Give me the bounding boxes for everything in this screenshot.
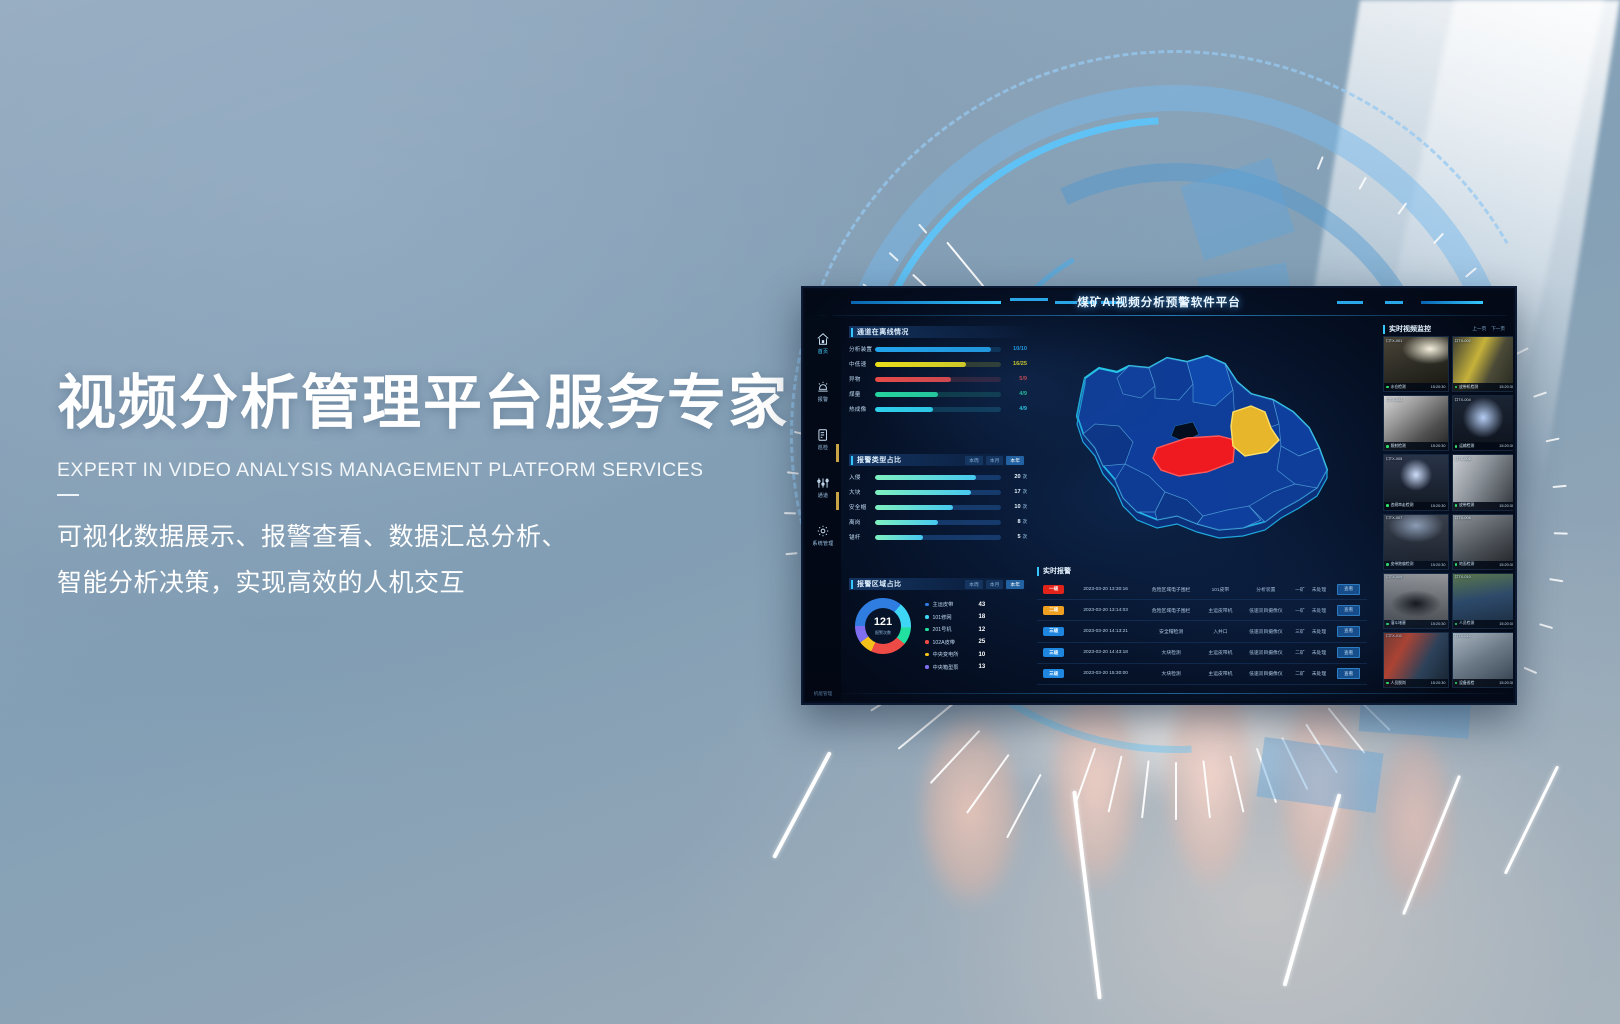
video-id: 口TX-001 xyxy=(1386,339,1402,344)
alarm-type-cell: 危险区域电子围栏 xyxy=(1141,579,1202,600)
alarm-action-cell: 查看 xyxy=(1330,663,1367,684)
online-led-icon xyxy=(1455,445,1458,448)
legend-value: 12 xyxy=(979,627,986,633)
alarm-type-row: 大块17次 xyxy=(849,488,1027,496)
panel-title: 报警区域占比 xyxy=(857,579,901,589)
status-badge: 一级 xyxy=(1043,585,1064,594)
video-time: 15:20:30 xyxy=(1431,681,1446,685)
progress-fill xyxy=(875,535,923,540)
period-tab-0[interactable]: 本周 xyxy=(965,456,983,465)
alarm-device-cell: 低速双目摄像仪 xyxy=(1239,600,1292,621)
online-led-icon xyxy=(1386,445,1389,448)
row-value: 5次 xyxy=(1001,534,1027,540)
progress-fill xyxy=(875,505,953,510)
realtime-alarm-panel: 实时报警 一级2023-03-20 13:30:16危险区域电子围栏101皮带分… xyxy=(1037,566,1367,685)
alarm-device-cell: 低速双目摄像仪 xyxy=(1239,621,1292,642)
ring-tick xyxy=(1317,156,1324,170)
alarm-status-cell: 未处理 xyxy=(1308,621,1331,642)
table-row: 三级2023-03-20 14:43:18大块检测主运皮带机低速双目摄像仪二矿未… xyxy=(1037,642,1367,663)
progress-fill xyxy=(875,392,938,397)
video-cell[interactable]: 口TX-012设备巡检15:20:30 xyxy=(1452,632,1514,688)
alarm-type-cell: 大块检测 xyxy=(1141,642,1202,663)
video-time: 15:20:30 xyxy=(1499,385,1513,389)
progress-fill xyxy=(875,347,991,352)
panel-header: 实时报警 xyxy=(1037,566,1367,576)
progress-track xyxy=(875,392,1001,397)
page-title: 视频分析管理平台服务专家 xyxy=(57,373,817,435)
hero-desc-line-1: 可视化数据展示、报警查看、数据汇总分析、 xyxy=(57,514,817,560)
alarm-level-cell: 一级 xyxy=(1037,579,1070,600)
video-name: 运输检测 xyxy=(1459,444,1474,449)
period-tab-2[interactable]: 本年 xyxy=(1006,456,1024,465)
row-label: 热成像 xyxy=(849,405,875,413)
row-value: 8次 xyxy=(1001,519,1027,525)
progress-fill xyxy=(875,377,951,382)
alarm-channel-cell: 主运皮带机 xyxy=(1201,663,1239,684)
row-unit: 次 xyxy=(1023,534,1027,539)
hero-section: 视频分析管理平台服务专家 EXPERT IN VIDEO ANALYSIS MA… xyxy=(57,373,817,606)
dashboard-footer xyxy=(841,689,1509,699)
donut-total-label: 报警次数 xyxy=(875,630,891,636)
sidebar-label: 首页 xyxy=(805,348,841,355)
channel-status-row: 中低速16/25 xyxy=(849,360,1027,368)
row-value: 4/9 xyxy=(1001,406,1027,412)
progress-track xyxy=(875,475,1001,480)
view-button[interactable]: 查看 xyxy=(1337,647,1360,658)
online-led-icon xyxy=(1386,386,1389,389)
dashboard-header: 煤矿AI视频分析预警软件平台 xyxy=(805,290,1513,316)
row-value: 5/9 xyxy=(1001,376,1027,382)
row-value: 4/9 xyxy=(1001,391,1027,397)
video-time: 15:20:30 xyxy=(1499,563,1513,567)
progress-track xyxy=(875,520,1001,525)
video-name: 地面检测 xyxy=(1459,562,1474,567)
row-label: 异物 xyxy=(849,375,875,383)
alarm-level-cell: 二级 xyxy=(1037,600,1070,621)
video-footer: 人员脱岗15:20:30 xyxy=(1384,679,1448,687)
alarm-type-row: 离岗8次 xyxy=(849,518,1027,526)
alarm-table: 一级2023-03-20 13:30:16危险区域电子围栏101皮带分析装置一矿… xyxy=(1037,579,1367,685)
table-row: 三级2023-03-20 15:30:00大块检测主运皮带机低速双目摄像仪二矿未… xyxy=(1037,663,1367,684)
legend-color-dot xyxy=(925,628,929,632)
alarm-channel-cell: 101皮带 xyxy=(1201,579,1239,600)
alarm-status-cell: 未处理 xyxy=(1308,663,1331,684)
alarm-time-cell: 2023-03-20 13:30:16 xyxy=(1070,579,1140,600)
video-time: 15:20:30 xyxy=(1431,622,1446,626)
video-name: 水仓检测 xyxy=(1391,385,1406,390)
alarm-device-cell: 低速双目摄像仪 xyxy=(1239,642,1292,663)
video-cell[interactable]: 口TX-007皮带跑偏检测15:20:30 xyxy=(1383,514,1449,570)
video-id: 口TX-009 xyxy=(1386,575,1402,580)
row-label: 锚杆 xyxy=(849,533,875,541)
progress-track xyxy=(875,535,1001,540)
video-name: 违规串走检测 xyxy=(1391,503,1414,508)
ring-tick xyxy=(1465,267,1477,278)
alarm-device-cell: 低速双目摄像仪 xyxy=(1239,663,1292,684)
online-led-icon xyxy=(1386,563,1389,566)
row-value: 17次 xyxy=(1001,489,1027,495)
channel-status-row: 异物5/9 xyxy=(849,375,1027,383)
ring-tick xyxy=(1006,774,1042,839)
row-unit: 次 xyxy=(1023,489,1027,494)
legend-color-dot xyxy=(925,665,929,669)
row-unit: 次 xyxy=(1023,504,1027,509)
row-label: 大块 xyxy=(849,488,875,496)
sidebar-item-alarm[interactable]: 报警 xyxy=(805,380,841,403)
video-grid: 口TX-001水仓检测15:20:30口TX-002皮带机检测15:20:30口… xyxy=(1383,336,1513,688)
video-id: 口TX-007 xyxy=(1386,516,1402,521)
ring-tick xyxy=(1539,623,1553,629)
progress-fill xyxy=(875,520,938,525)
row-count: 10 xyxy=(1014,504,1020,510)
online-led-icon xyxy=(1455,682,1458,685)
alarm-action-cell: 查看 xyxy=(1330,600,1367,621)
legend-color-dot xyxy=(925,640,929,644)
ring-tick xyxy=(1175,762,1177,820)
period-tab-2[interactable]: 本年 xyxy=(1006,580,1024,589)
video-name: 设备巡检 xyxy=(1459,681,1474,686)
panel-header: 报警类型占比 本周本月本年 xyxy=(849,454,1027,466)
alarm-type-cell: 危险区域电子围栏 xyxy=(1141,600,1202,621)
legend-value: 18 xyxy=(979,614,986,620)
channel-status-panel: 通道在离线情况 分析装置10/10中低速16/25异物5/9煤量4/9热成像4/… xyxy=(849,326,1027,413)
alarm-level-cell: 三级 xyxy=(1037,621,1070,642)
alarm-mine-cell: 一矿 xyxy=(1292,600,1307,621)
alarm-action-cell: 查看 xyxy=(1330,642,1367,663)
table-row: 三级2023-03-20 14:13:21安全帽检测入井口低速双目摄像仪三矿未处… xyxy=(1037,621,1367,642)
sidebar-item-channel[interactable]: 通道 xyxy=(805,476,841,499)
alarm-level-cell: 三级 xyxy=(1037,642,1070,663)
video-cell[interactable]: 口TX-009溜斗堵塞15:20:30 xyxy=(1383,573,1449,629)
row-label: 煤量 xyxy=(849,390,875,398)
video-id: 口TX-008 xyxy=(1455,516,1471,521)
ring-tick xyxy=(1524,667,1538,674)
ring-tick xyxy=(898,702,955,749)
row-unit: 次 xyxy=(1023,474,1027,479)
alarm-type-rows: 入侵20次大块17次安全帽10次离岗8次锚杆5次 xyxy=(849,473,1027,541)
ring-tick xyxy=(1229,756,1244,813)
legend-value: 10 xyxy=(979,652,986,658)
dashboard-monitor: 煤矿AI视频分析预警软件平台 首页 xyxy=(801,286,1517,705)
alarm-channel-cell: 主运皮带机 xyxy=(1201,600,1239,621)
dashboard-screen: 煤矿AI视频分析预警软件平台 首页 xyxy=(805,290,1513,701)
video-time: 15:20:30 xyxy=(1431,444,1446,448)
alarm-action-cell: 查看 xyxy=(1330,621,1367,642)
video-footer: 皮带机检测15:20:30 xyxy=(1453,383,1514,391)
sidebar-label: 通道 xyxy=(805,492,841,499)
table-row: 一级2023-03-20 13:30:16危险区域电子围栏101皮带分析装置一矿… xyxy=(1037,579,1367,600)
alarm-time-cell: 2023-03-20 15:30:00 xyxy=(1070,663,1140,684)
sidebar: 首页 报警 xyxy=(805,316,841,701)
row-value: 10次 xyxy=(1001,504,1027,510)
period-tab-1[interactable]: 本月 xyxy=(986,580,1004,589)
alarm-type-cell: 大块检测 xyxy=(1141,663,1202,684)
progress-fill xyxy=(875,362,966,367)
video-cell[interactable]: 口TX-006皮带检测15:20:30 xyxy=(1452,454,1514,510)
video-cell[interactable]: 口TX-001水仓检测15:20:30 xyxy=(1383,336,1449,392)
legend-color-dot xyxy=(925,653,929,657)
ring-tick xyxy=(1108,756,1123,813)
video-time: 15:20:30 xyxy=(1499,681,1513,685)
video-name: 照射检测 xyxy=(1391,444,1406,449)
progress-track xyxy=(875,407,1001,412)
legend-color-dot xyxy=(925,615,929,619)
video-time: 15:20:30 xyxy=(1499,622,1513,626)
ring-tick xyxy=(1533,391,1547,397)
sidebar-item-home[interactable]: 首页 xyxy=(805,332,841,355)
video-pager[interactable]: 上一页 下一页 xyxy=(1472,326,1505,332)
online-led-icon xyxy=(1386,504,1389,507)
legend-item: 201号机12 xyxy=(925,626,985,633)
video-name: 人员脱岗 xyxy=(1391,681,1406,686)
alarm-time-cell: 2023-03-20 14:13:21 xyxy=(1070,621,1140,642)
legend-label: 中央箱型泵 xyxy=(933,664,979,671)
row-value: 20次 xyxy=(1001,474,1027,480)
alarm-mine-cell: 一矿 xyxy=(1292,579,1307,600)
alarm-mine-cell: 三矿 xyxy=(1292,621,1307,642)
channel-icon xyxy=(805,476,841,491)
row-count: 5 xyxy=(1017,534,1020,540)
period-tab-1[interactable]: 本月 xyxy=(986,456,1004,465)
alarm-type-row: 入侵20次 xyxy=(849,473,1027,481)
dashboard-title: 煤矿AI视频分析预警软件平台 xyxy=(1077,294,1241,310)
legend-item: 中央变电所10 xyxy=(925,651,985,658)
legend-value: 25 xyxy=(979,639,986,645)
video-cell[interactable]: 口TX-002皮带机检测15:20:30 xyxy=(1452,336,1514,392)
video-id: 口TX-011 xyxy=(1386,634,1402,639)
online-led-icon xyxy=(1455,563,1458,566)
video-cell[interactable]: 口TX-003照射检测15:20:30 xyxy=(1383,395,1449,451)
alarm-mine-cell: 二矿 xyxy=(1292,663,1307,684)
row-label: 离岗 xyxy=(849,518,875,526)
progress-track xyxy=(875,490,1001,495)
ring-tick xyxy=(1358,177,1367,190)
legend-label: 201号机 xyxy=(933,626,979,633)
row-count: 17 xyxy=(1014,489,1020,495)
video-footer: 照射检测15:20:30 xyxy=(1384,442,1448,450)
video-name: 皮带检测 xyxy=(1459,503,1474,508)
legend-label: 102A皮带 xyxy=(933,639,979,646)
alarm-status-cell: 未处理 xyxy=(1308,600,1331,621)
video-cell[interactable]: 口TX-010人员检测15:20:30 xyxy=(1452,573,1514,629)
ring-tick xyxy=(889,252,899,262)
ring-tick xyxy=(1433,233,1444,245)
ring-tick xyxy=(1397,202,1407,215)
alarm-time-cell: 2023-03-20 13:14:03 xyxy=(1070,600,1140,621)
legend-value: 13 xyxy=(979,664,986,670)
sidebar-footer: 机能管理 xyxy=(805,691,841,697)
sidebar-label: 系统管理 xyxy=(805,540,841,547)
video-footer: 设备巡检15:20:30 xyxy=(1453,679,1514,687)
legend-label: 101修网 xyxy=(933,614,979,621)
ring-tick xyxy=(1075,748,1096,803)
video-time: 15:20:30 xyxy=(1431,563,1446,567)
video-footer: 水仓检测15:20:30 xyxy=(1384,383,1448,391)
hero-desc-line-2: 智能分析决策，实现高效的人机交互 xyxy=(57,560,817,606)
alarm-status-cell: 未处理 xyxy=(1308,642,1331,663)
ring-tick xyxy=(966,754,1009,814)
ring-tick xyxy=(1141,760,1150,818)
video-id: 口TX-004 xyxy=(1455,398,1471,403)
view-button[interactable]: 查看 xyxy=(1337,605,1360,616)
legend-label: 主运皮带 xyxy=(933,601,979,608)
ring-tick xyxy=(1554,532,1568,534)
video-cell[interactable]: 口TX-011人员脱岗15:20:30 xyxy=(1383,632,1449,688)
video-cell[interactable]: 口TX-005违规串走检测15:20:30 xyxy=(1383,454,1449,510)
progress-track xyxy=(875,505,1001,510)
alarm-area-donut: 121 报警次数 xyxy=(855,598,911,676)
video-panel-header: 实时视频监控 xyxy=(1383,324,1431,334)
settings-icon xyxy=(805,524,841,539)
row-count: 8 xyxy=(1017,519,1020,525)
video-footer: 溜斗堵塞15:20:30 xyxy=(1384,620,1448,628)
period-tabs[interactable]: 本周本月本年 xyxy=(965,456,1027,465)
progress-fill xyxy=(875,490,971,495)
alarm-level-cell: 三级 xyxy=(1037,663,1070,684)
alarm-type-cell: 安全帽检测 xyxy=(1141,621,1202,642)
legend-color-dot xyxy=(925,603,929,607)
ring-tick xyxy=(1515,347,1528,355)
next-page-button[interactable]: 下一页 xyxy=(1491,326,1505,332)
row-value: 16/25 xyxy=(1001,361,1027,367)
view-button[interactable]: 查看 xyxy=(1337,584,1360,595)
legend-label: 中央变电所 xyxy=(933,651,979,658)
alarm-type-row: 锚杆5次 xyxy=(849,533,1027,541)
donut-legend: 主运皮带43101修网18201号机12102A皮带25中央变电所10中央箱型泵… xyxy=(925,598,985,676)
row-count: 20 xyxy=(1014,474,1020,480)
progress-fill xyxy=(875,407,933,412)
inspection-icon xyxy=(805,428,841,443)
view-button[interactable]: 查看 xyxy=(1337,668,1360,679)
alarm-status-cell: 未处理 xyxy=(1308,579,1331,600)
video-id: 口TX-005 xyxy=(1386,457,1402,462)
panel-title: 通道在离线情况 xyxy=(857,327,909,337)
panel-title: 实时报警 xyxy=(1043,566,1071,576)
donut-total: 121 xyxy=(874,617,892,628)
sidebar-label: 报警 xyxy=(805,396,841,403)
panel-header: 通道在离线情况 xyxy=(849,326,1027,338)
video-time: 15:20:30 xyxy=(1431,504,1446,508)
china-province-map[interactable] xyxy=(1037,324,1367,554)
online-led-icon xyxy=(1455,504,1458,507)
header-underline xyxy=(833,315,1507,316)
video-name: 人员检测 xyxy=(1459,621,1474,626)
hero-subtitle: EXPERT IN VIDEO ANALYSIS MANAGEMENT PLAT… xyxy=(57,459,817,482)
row-label: 入侵 xyxy=(849,473,875,481)
online-led-icon xyxy=(1455,386,1458,389)
video-id: 口TX-012 xyxy=(1455,634,1471,639)
panel-title: 实时视频监控 xyxy=(1389,324,1431,334)
panel-header: 报警区域占比 本周本月本年 xyxy=(849,578,1027,590)
legend-item: 101修网18 xyxy=(925,614,985,621)
video-id: 口TX-006 xyxy=(1455,457,1471,462)
video-name: 皮带跑偏检测 xyxy=(1391,562,1414,567)
map-svg xyxy=(1037,324,1367,554)
channel-rows: 分析装置10/10中低速16/25异物5/9煤量4/9热成像4/9 xyxy=(849,345,1027,413)
prev-page-button[interactable]: 上一页 xyxy=(1472,326,1486,332)
video-footer: 运输检测15:20:30 xyxy=(1453,442,1514,450)
ring-tick xyxy=(930,730,981,784)
status-badge: 二级 xyxy=(1043,606,1064,615)
legend-item: 主运皮带43 xyxy=(925,601,985,608)
legend-item: 中央箱型泵13 xyxy=(925,664,985,671)
alarm-time-cell: 2023-03-20 14:43:18 xyxy=(1070,642,1140,663)
alarm-icon xyxy=(805,380,841,395)
period-tabs[interactable]: 本周本月本年 xyxy=(965,580,1027,589)
table-row: 二级2023-03-20 13:14:03危险区域电子围栏主运皮带机低速双目摄像… xyxy=(1037,600,1367,621)
progress-track xyxy=(875,347,1001,352)
alarm-area-panel: 报警区域占比 本周本月本年 121 报警次数 主运皮带43101修网18201号… xyxy=(849,578,1027,676)
alarm-channel-cell: 主运皮带机 xyxy=(1201,642,1239,663)
ring-tick xyxy=(1202,760,1211,818)
video-footer: 人员检测15:20:30 xyxy=(1453,620,1514,628)
row-label: 安全帽 xyxy=(849,503,875,511)
alarm-channel-cell: 入井口 xyxy=(1201,621,1239,642)
video-cell[interactable]: 口TX-004运输检测15:20:30 xyxy=(1452,395,1514,451)
home-icon xyxy=(805,332,841,347)
row-label: 中低速 xyxy=(849,360,875,368)
legend-item: 102A皮带25 xyxy=(925,639,985,646)
alarm-mine-cell: 二矿 xyxy=(1292,642,1307,663)
alarm-device-cell: 分析装置 xyxy=(1239,579,1292,600)
online-led-icon xyxy=(1455,623,1458,626)
video-footer: 皮带检测15:20:30 xyxy=(1453,502,1514,510)
alarm-action-cell: 查看 xyxy=(1330,579,1367,600)
period-tab-0[interactable]: 本周 xyxy=(965,580,983,589)
video-name: 皮带机检测 xyxy=(1459,385,1478,390)
video-cell[interactable]: 口TX-008地面检测15:20:30 xyxy=(1452,514,1514,570)
status-badge: 三级 xyxy=(1043,627,1064,636)
progress-track xyxy=(875,362,1001,367)
legend-value: 43 xyxy=(979,602,986,608)
status-badge: 三级 xyxy=(1043,669,1064,678)
ring-tick xyxy=(918,223,927,233)
view-button[interactable]: 查看 xyxy=(1337,626,1360,637)
video-footer: 皮带跑偏检测15:20:30 xyxy=(1384,561,1448,569)
status-badge: 三级 xyxy=(1043,648,1064,657)
progress-fill xyxy=(875,475,976,480)
hero-divider xyxy=(57,494,79,496)
alarm-type-row: 安全帽10次 xyxy=(849,503,1027,511)
progress-track xyxy=(875,377,1001,382)
online-led-icon xyxy=(1386,682,1389,685)
channel-status-row: 分析装置10/10 xyxy=(849,345,1027,353)
row-label: 分析装置 xyxy=(849,345,875,353)
video-id: 口TX-010 xyxy=(1455,575,1471,580)
online-led-icon xyxy=(1386,623,1389,626)
sidebar-item-inspection[interactable]: 巡检 xyxy=(805,428,841,451)
video-name: 溜斗堵塞 xyxy=(1391,621,1406,626)
alarm-type-panel: 报警类型占比 本周本月本年 入侵20次大块17次安全帽10次离岗8次锚杆5次 xyxy=(849,454,1027,541)
video-time: 15:20:30 xyxy=(1499,444,1513,448)
row-value: 10/10 xyxy=(1001,346,1027,352)
channel-status-row: 热成像4/9 xyxy=(849,405,1027,413)
video-time: 15:20:30 xyxy=(1431,385,1446,389)
sidebar-label: 巡检 xyxy=(805,444,841,451)
video-footer: 违规串走检测15:20:30 xyxy=(1384,502,1448,510)
channel-status-row: 煤量4/9 xyxy=(849,390,1027,398)
video-time: 15:20:30 xyxy=(1499,504,1513,508)
panel-title: 报警类型占比 xyxy=(857,455,901,465)
sidebar-item-settings[interactable]: 系统管理 xyxy=(805,524,841,547)
video-id: 口TX-003 xyxy=(1386,398,1402,403)
row-unit: 次 xyxy=(1023,519,1027,524)
video-footer: 地面检测15:20:30 xyxy=(1453,561,1514,569)
video-id: 口TX-002 xyxy=(1455,339,1471,344)
